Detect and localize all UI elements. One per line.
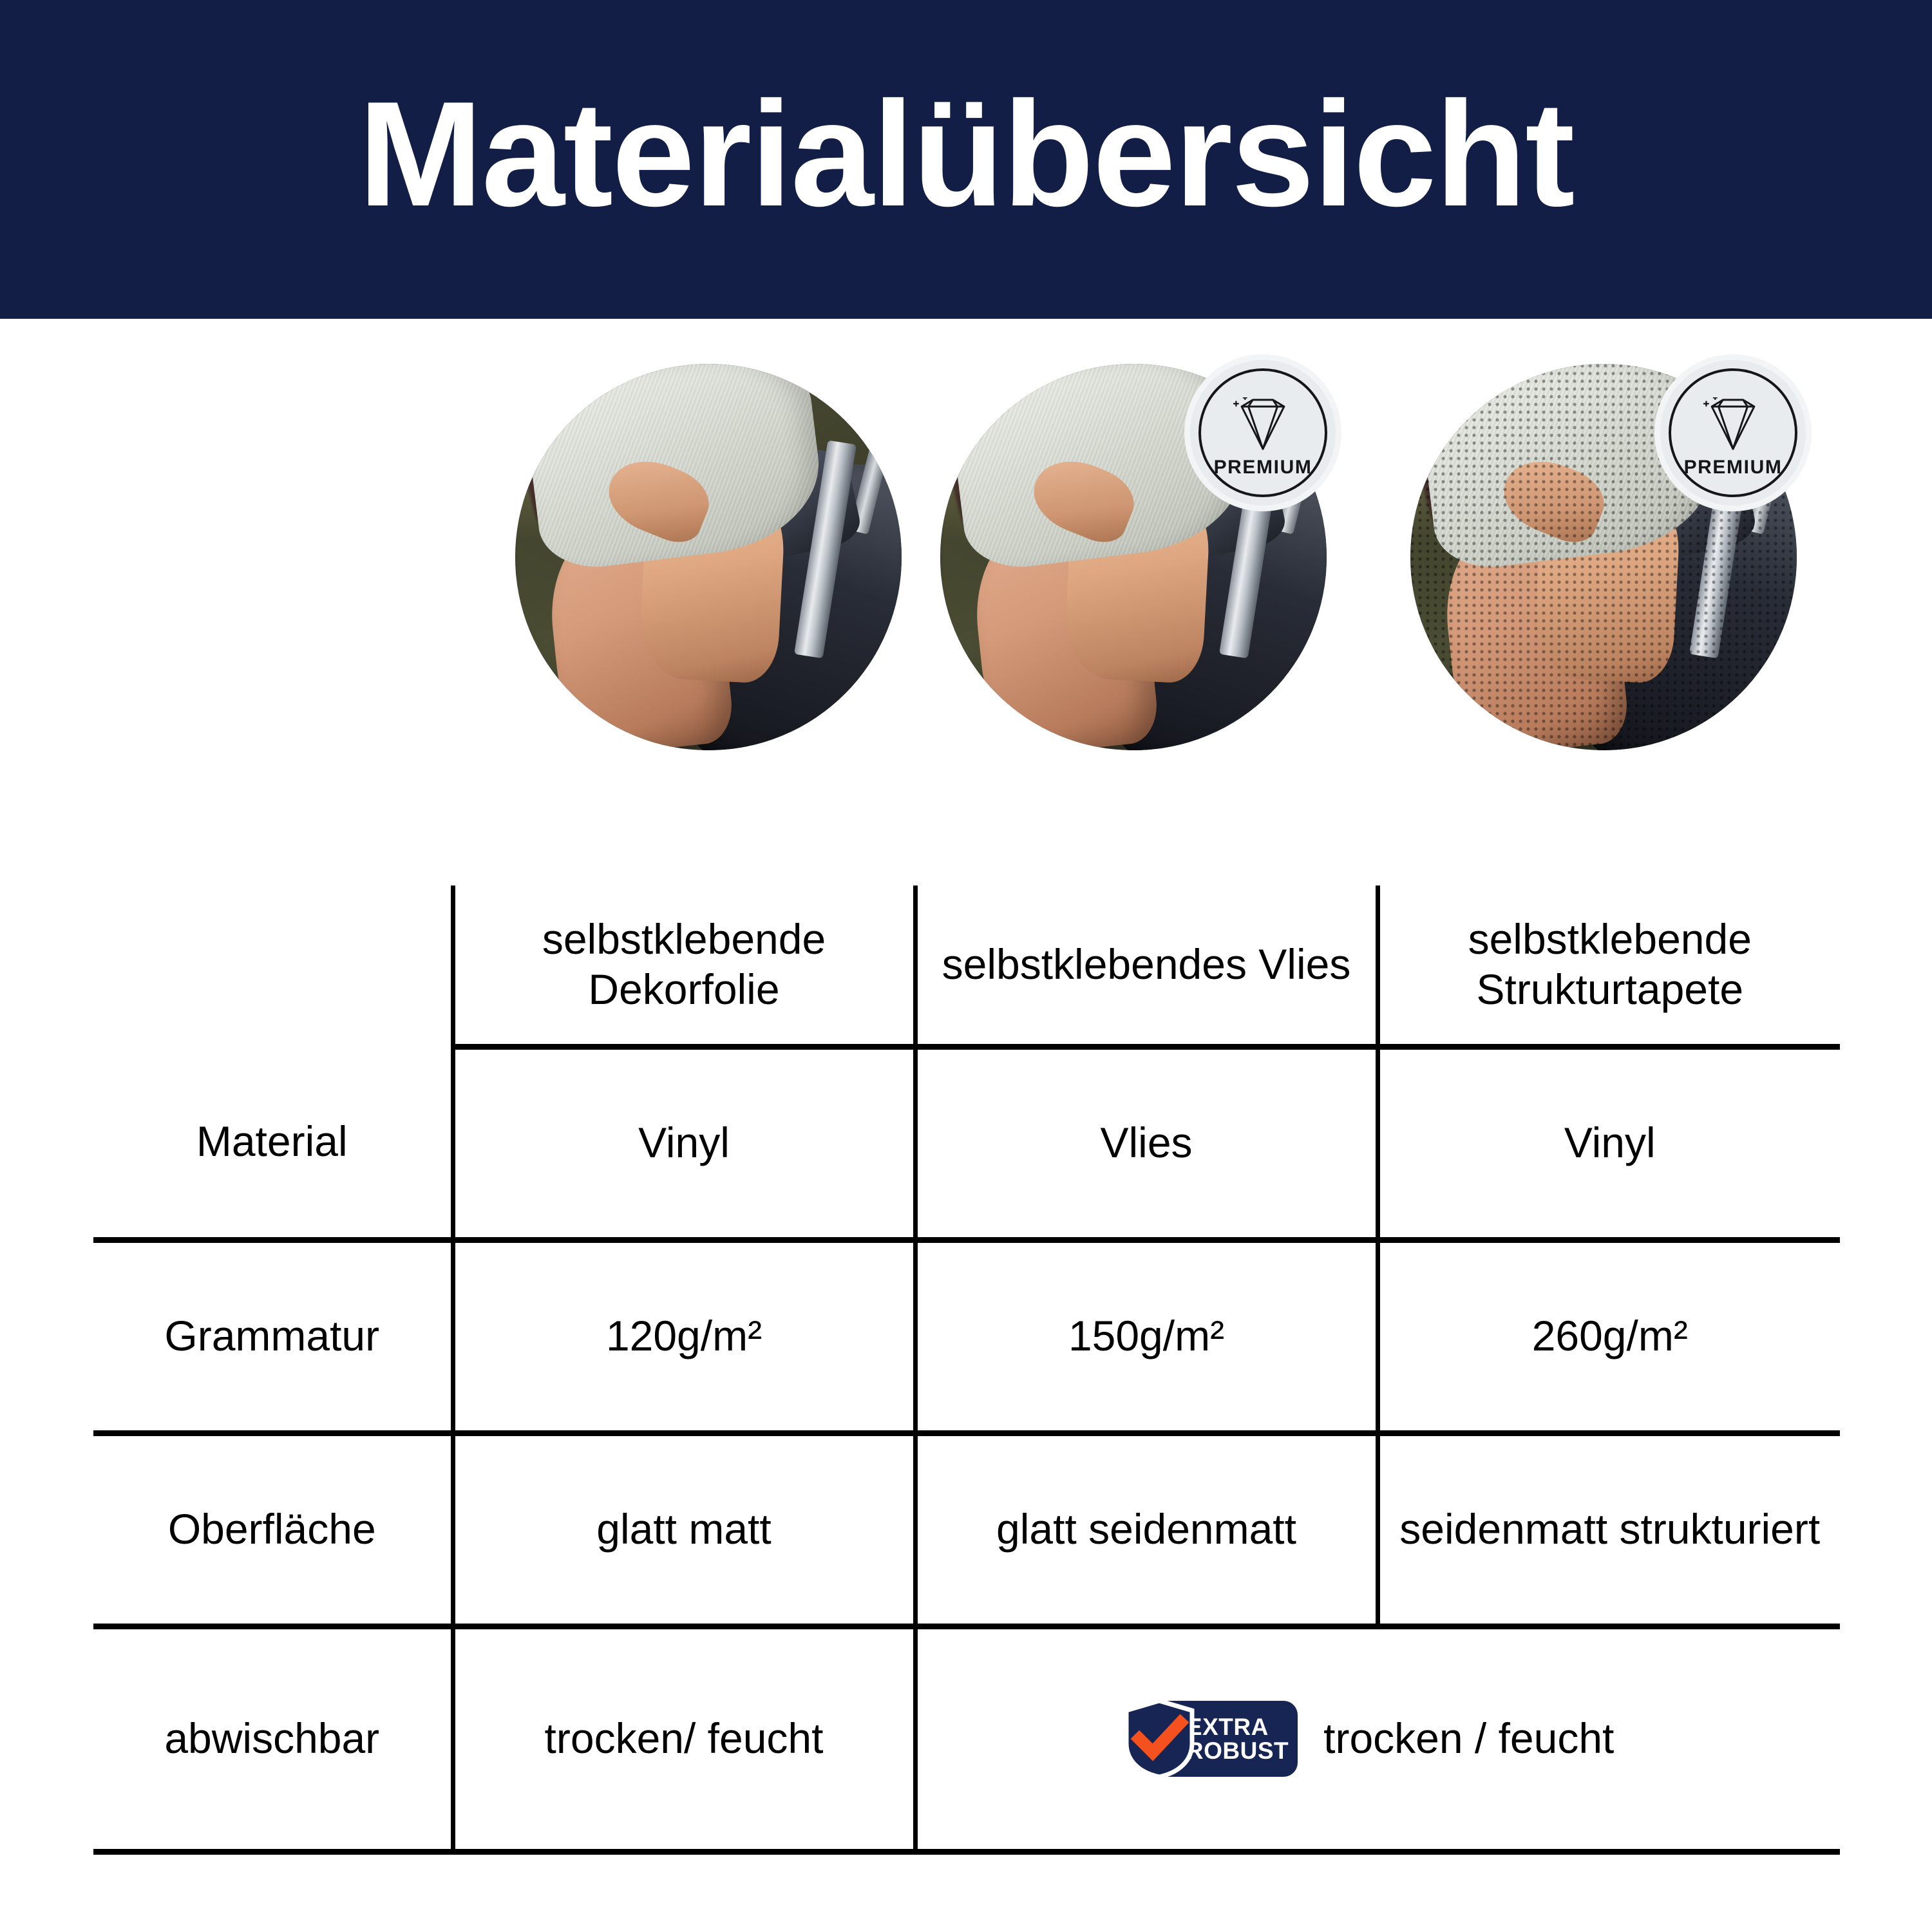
extra-robust-line1: EXTRA: [1186, 1715, 1269, 1739]
material-comparison-table: selbstklebende Dekorfolie selbstklebende…: [93, 885, 1840, 1855]
premium-label: PREMIUM: [1684, 457, 1783, 478]
table-row-material: Material Vinyl Vlies Vinyl: [93, 1046, 1840, 1240]
table-row-grammatur: Grammatur 120g/m² 150g/m² 260g/m²: [93, 1240, 1840, 1433]
premium-badge: PREMIUM: [1190, 360, 1336, 506]
cell-oberflaeche-strukturtapete: seidenmatt strukturiert: [1378, 1433, 1840, 1626]
extra-robust-badge: EXTRA ROBUST: [1143, 1701, 1298, 1777]
premium-label: PREMIUM: [1214, 457, 1312, 478]
column-header-dekorfolie: selbstklebende Dekorfolie: [453, 885, 915, 1046]
cell-material-dekorfolie: Vinyl: [453, 1046, 915, 1240]
table-row-oberflaeche: Oberfläche glatt matt glatt seidenmatt s…: [93, 1433, 1840, 1626]
cell-oberflaeche-vlies: glatt seidenmatt: [915, 1433, 1378, 1626]
product-swatch-dekorfolie[interactable]: [515, 364, 902, 750]
table-corner-cell: [93, 885, 453, 1046]
swatch-image: [515, 364, 902, 750]
cell-abwischbar-value: trocken / feucht: [1323, 1714, 1614, 1764]
column-header-strukturtapete: selbstklebende Strukturtapete: [1378, 885, 1840, 1046]
cell-oberflaeche-dekorfolie: glatt matt: [453, 1433, 915, 1626]
premium-badge: PREMIUM: [1660, 360, 1806, 506]
cell-abwischbar-merged: EXTRA ROBUST trocken / feucht: [915, 1626, 1840, 1851]
row-label-grammatur: Grammatur: [93, 1240, 453, 1433]
extra-robust-line2: ROBUST: [1186, 1739, 1289, 1763]
diamond-icon: [1229, 397, 1296, 451]
table-header-row: selbstklebende Dekorfolie selbstklebende…: [93, 885, 1840, 1046]
cell-grammatur-vlies: 150g/m²: [915, 1240, 1378, 1433]
row-label-oberflaeche: Oberfläche: [93, 1433, 453, 1626]
cell-material-vlies: Vlies: [915, 1046, 1378, 1240]
product-swatch-strukturtapete[interactable]: PREMIUM: [1410, 364, 1797, 750]
page-title: Materialübersicht: [358, 80, 1573, 229]
cell-material-strukturtapete: Vinyl: [1378, 1046, 1840, 1240]
column-header-vlies: selbstklebendes Vlies: [915, 885, 1378, 1046]
row-label-material: Material: [93, 1046, 453, 1240]
shield-check-icon: [1121, 1698, 1197, 1779]
product-swatch-vlies[interactable]: PREMIUM: [940, 364, 1327, 750]
header-banner: Materialübersicht: [0, 0, 1932, 319]
table-row-abwischbar: abwischbar trocken/ feucht EXTRA ROBUST: [93, 1626, 1840, 1851]
cell-abwischbar-dekorfolie: trocken/ feucht: [453, 1626, 915, 1851]
cell-grammatur-strukturtapete: 260g/m²: [1378, 1240, 1840, 1433]
row-label-abwischbar: abwischbar: [93, 1626, 453, 1851]
diamond-icon: [1700, 397, 1766, 451]
cell-grammatur-dekorfolie: 120g/m²: [453, 1240, 915, 1433]
